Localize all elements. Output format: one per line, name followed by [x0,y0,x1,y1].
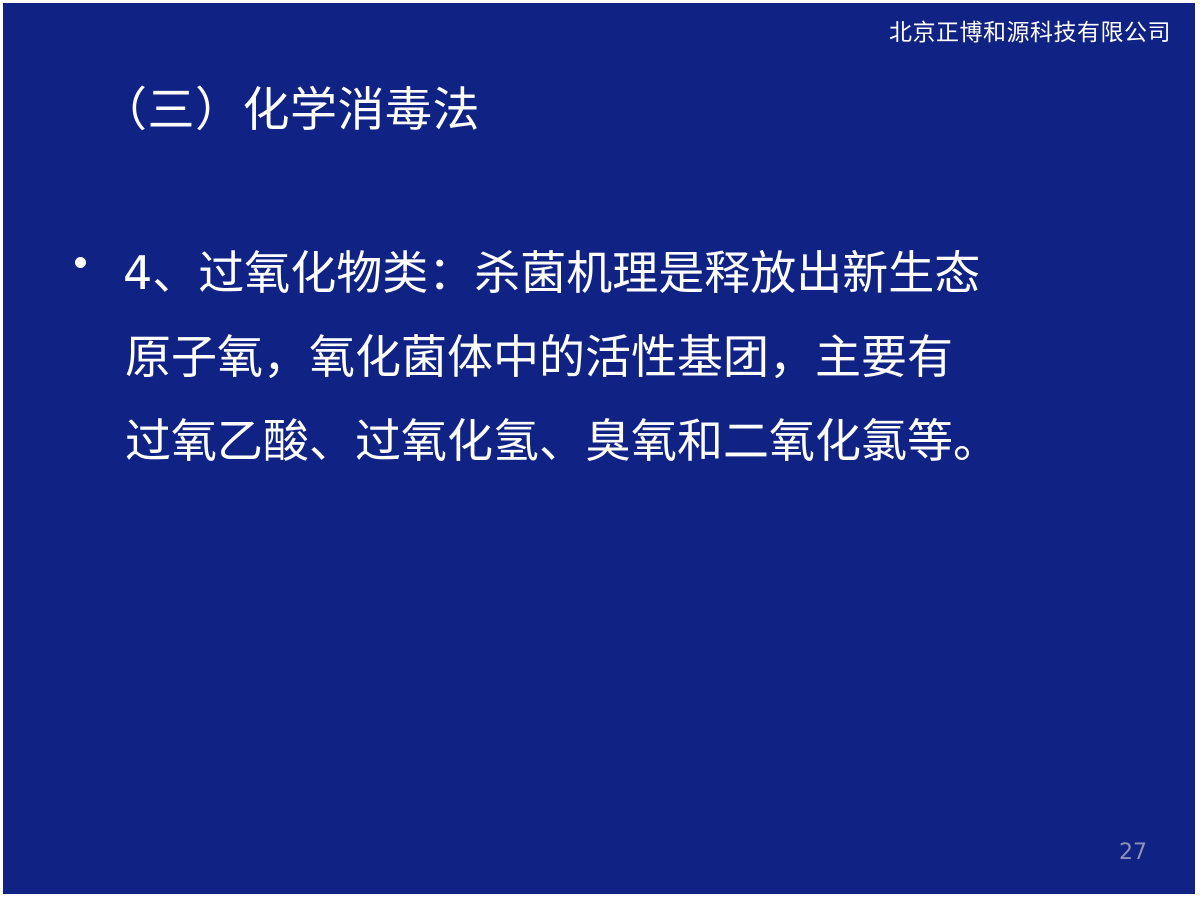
slide-canvas: 北京正博和源科技有限公司 （三）化学消毒法 4、过氧化物类：杀菌机理是释放出新生… [3,3,1195,894]
slide-body: 4、过氧化物类：杀菌机理是释放出新生态 原子氧，氧化菌体中的活性基团，主要有 过… [71,231,1146,483]
bullet-point-icon [75,257,86,268]
company-name-label: 北京正博和源科技有限公司 [889,19,1171,47]
body-line-2: 原子氧，氧化菌体中的活性基团，主要有 [123,315,1146,399]
page-title: （三）化学消毒法 [100,79,480,143]
bullet-item-text: 4、过氧化物类：杀菌机理是释放出新生态 原子氧，氧化菌体中的活性基团，主要有 过… [71,231,1146,483]
slide-header: 北京正博和源科技有限公司 [3,3,1195,61]
body-line-3: 过氧乙酸、过氧化氢、臭氧和二氧化氯等。 [123,399,1146,483]
bullet-list-item: 4、过氧化物类：杀菌机理是释放出新生态 原子氧，氧化菌体中的活性基团，主要有 过… [71,231,1146,483]
page-number-label: 27 [1119,840,1147,866]
body-line-1: 4、过氧化物类：杀菌机理是释放出新生态 [123,231,1146,315]
